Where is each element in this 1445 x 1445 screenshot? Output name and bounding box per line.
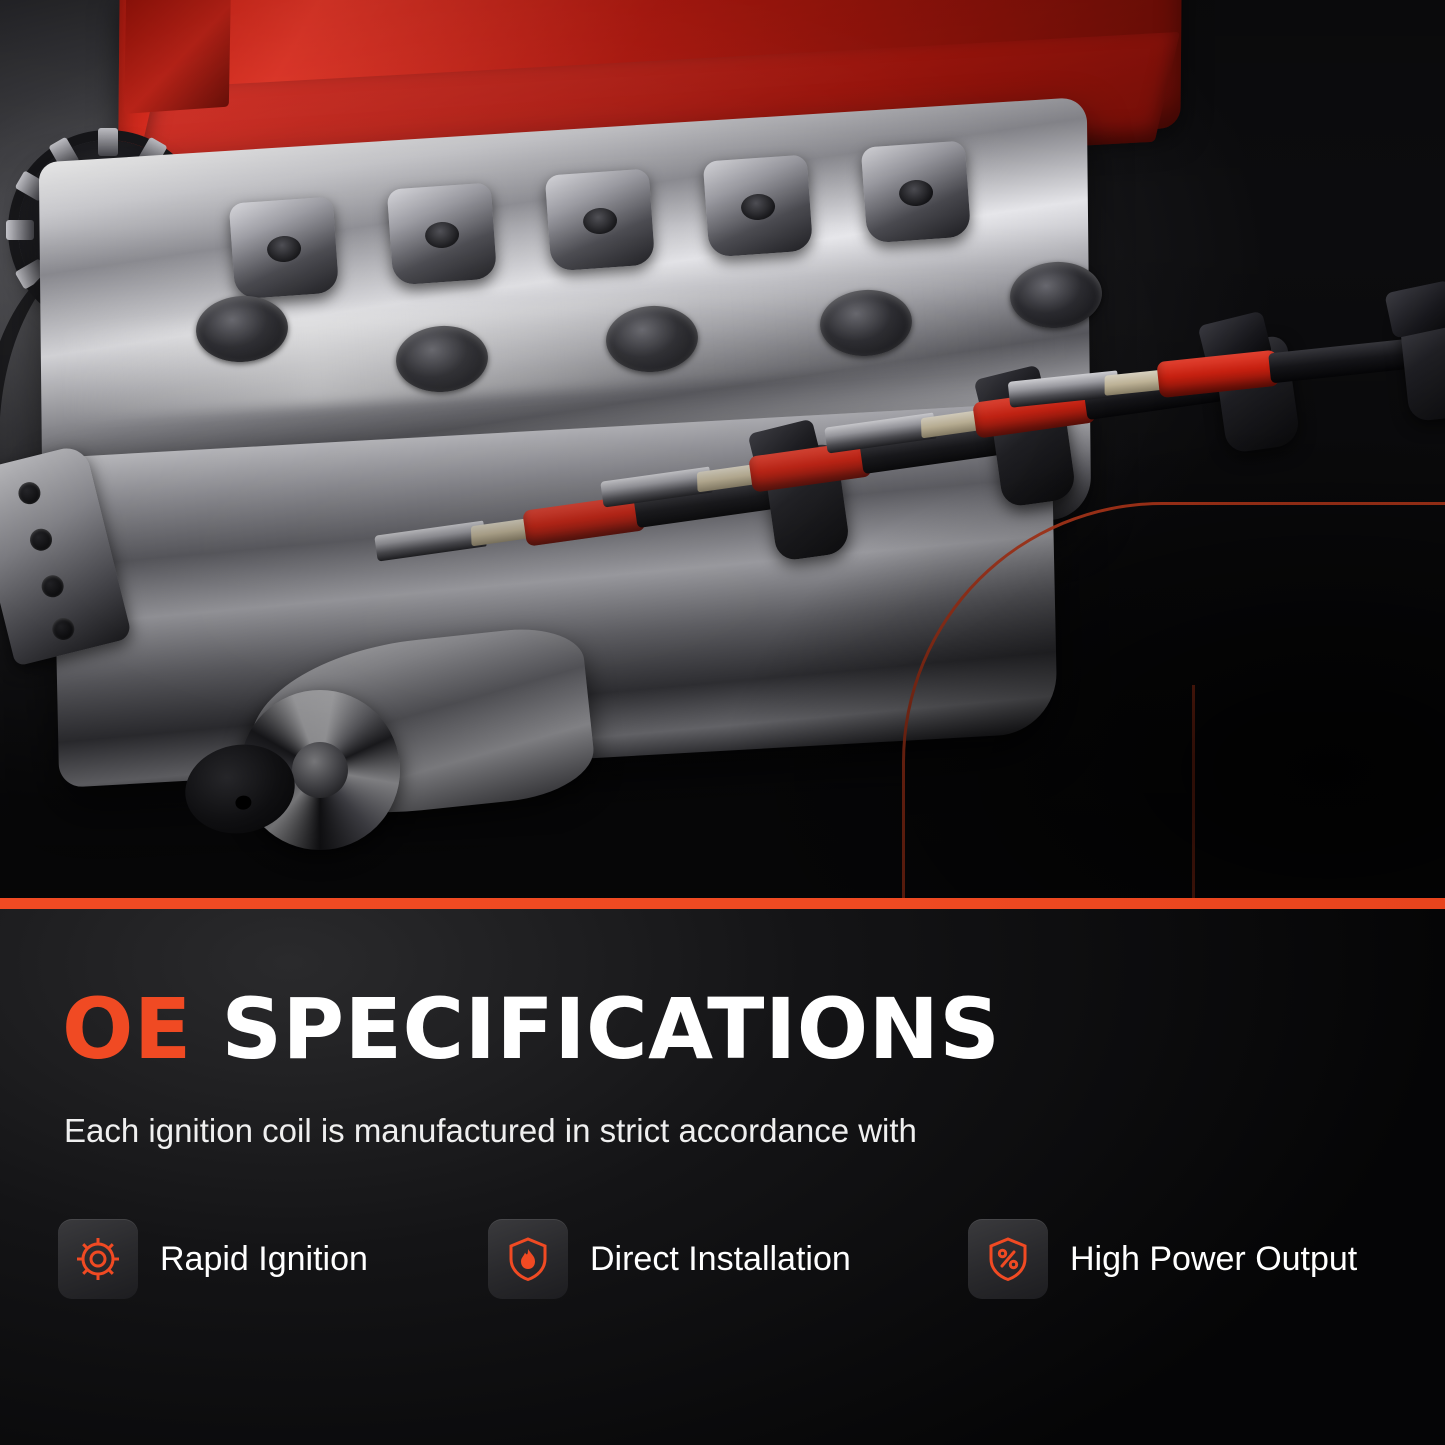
flame-shield-icon (488, 1219, 568, 1299)
feature-item-rapid-ignition: Rapid Ignition (58, 1219, 488, 1299)
gear-ignition-icon (58, 1219, 138, 1299)
page-title-accent: OE (62, 980, 192, 1078)
engine-hero-image (0, 0, 1445, 905)
subheadline: Each ignition coil is manufactured in st… (64, 1112, 917, 1150)
hero-vignette (0, 0, 1445, 905)
page-title-rest: SPECIFICATIONS (192, 980, 1001, 1078)
bottom-info-panel: OE SPECIFICATIONS Each ignition coil is … (0, 909, 1445, 1445)
feature-item-direct-installation: Direct Installation (488, 1219, 968, 1299)
feature-list: Rapid Ignition Direct Installation (58, 1219, 1398, 1299)
orange-divider (0, 898, 1445, 909)
percent-shield-icon (968, 1219, 1048, 1299)
feature-item-high-power-output: High Power Output (968, 1219, 1398, 1299)
product-feature-poster: OE SPECIFICATIONS Each ignition coil is … (0, 0, 1445, 1445)
page-title: OE SPECIFICATIONS (62, 987, 1000, 1071)
feature-label: High Power Output (1070, 1240, 1357, 1279)
feature-label: Direct Installation (590, 1240, 851, 1279)
feature-label: Rapid Ignition (160, 1240, 368, 1279)
